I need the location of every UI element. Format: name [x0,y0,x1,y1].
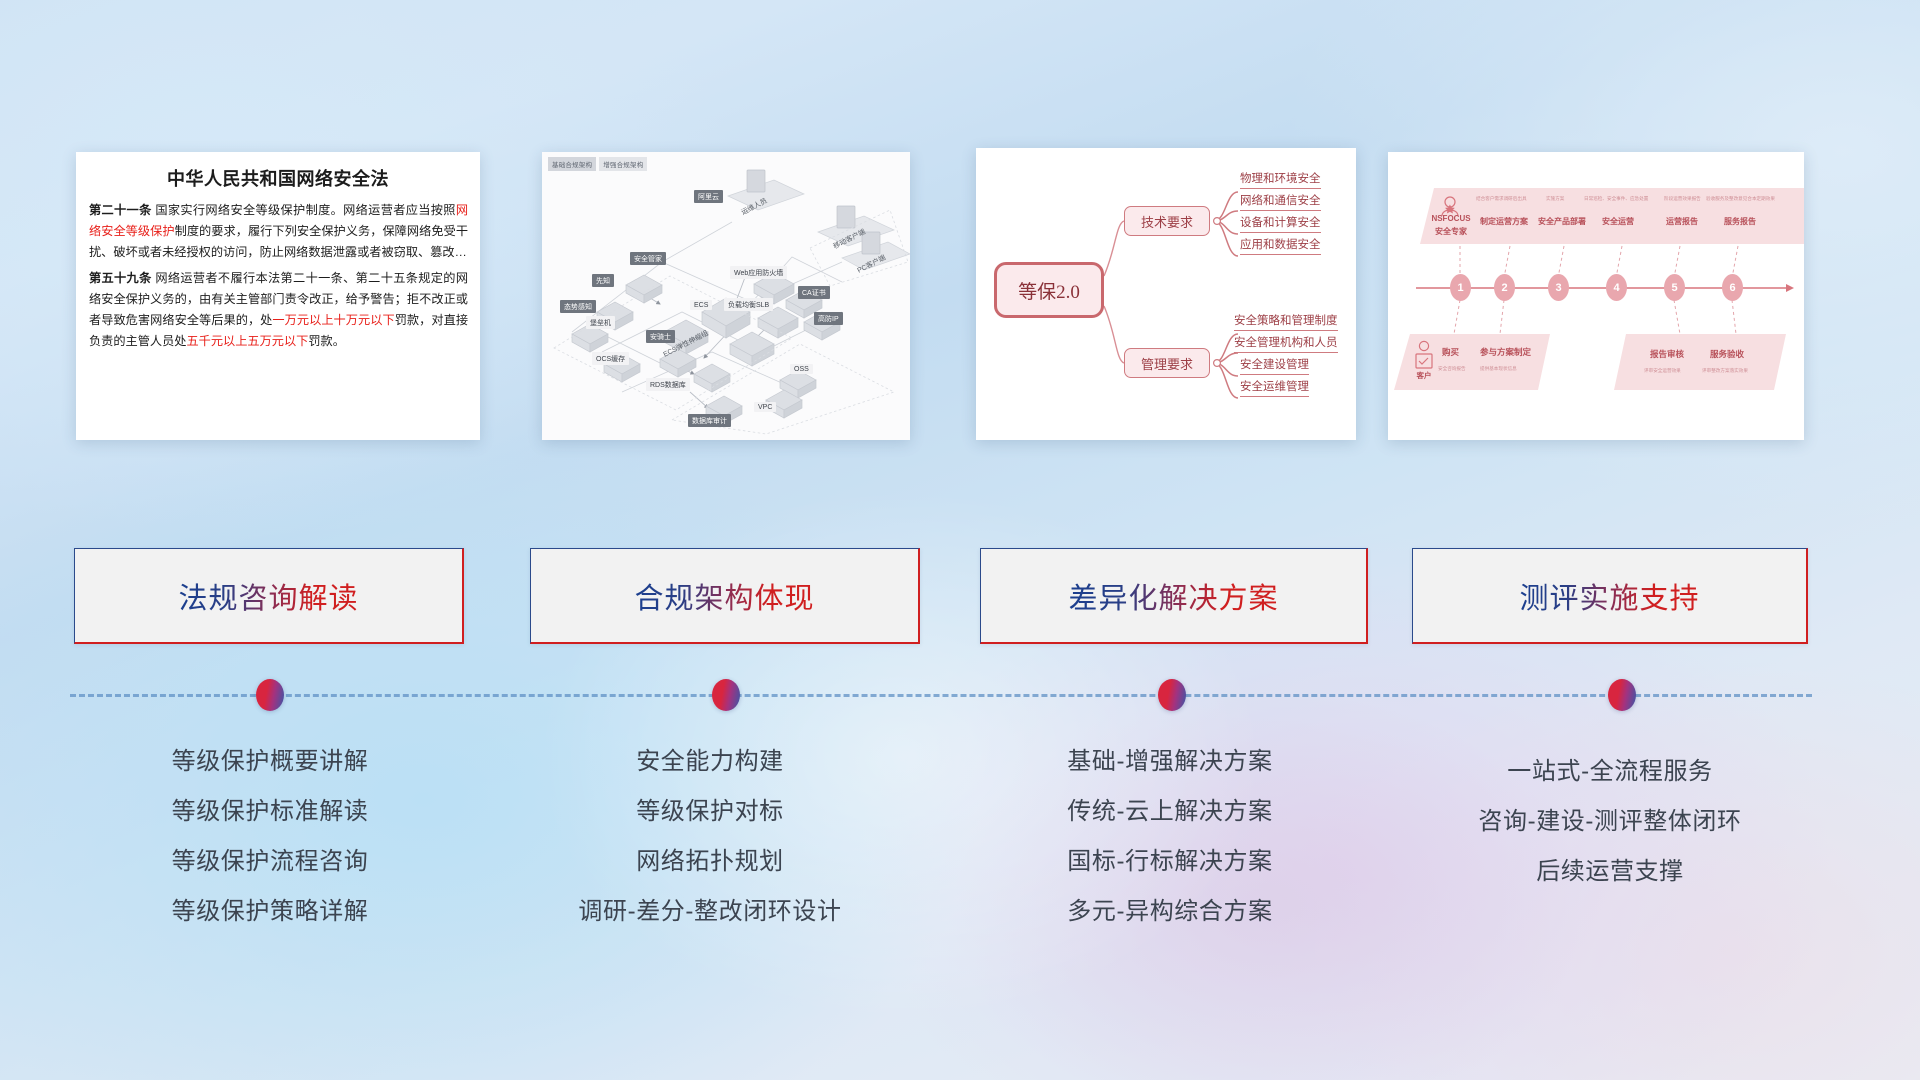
list-item: 基础-增强解决方案 [960,750,1380,774]
list-item: 等级保护策略详解 [60,900,480,924]
list-item: 多元-异构综合方案 [960,900,1380,924]
timeline-dot-2[interactable] [712,679,740,711]
timeline-dot-4[interactable] [1608,679,1636,711]
list-column-assessment-support: 一站式-全流程服务 咨询-建设-测评整体闭环 后续运营支撑 [1390,760,1830,910]
list-item: 等级保护对标 [500,800,920,824]
list-item: 国标-行标解决方案 [960,850,1380,874]
list-item: 咨询-建设-测评整体闭环 [1390,810,1830,834]
list-item: 调研-差分-整改闭环设计 [500,900,920,924]
list-item: 等级保护流程咨询 [60,850,480,874]
list-column-compliance-architecture: 安全能力构建 等级保护对标 网络拓扑规划 调研-差分-整改闭环设计 [500,750,920,950]
timeline-dot-1[interactable] [256,679,284,711]
list-column-differentiated-solution: 基础-增强解决方案 传统-云上解决方案 国标-行标解决方案 多元-异构综合方案 [960,750,1380,950]
list-item: 传统-云上解决方案 [960,800,1380,824]
timeline-dashed-line [70,694,1812,697]
list-item: 等级保护概要讲解 [60,750,480,774]
timeline-dot-3[interactable] [1158,679,1186,711]
list-item: 等级保护标准解读 [60,800,480,824]
list-item: 一站式-全流程服务 [1390,760,1830,784]
list-item: 网络拓扑规划 [500,850,920,874]
list-column-regulation-consulting: 等级保护概要讲解 等级保护标准解读 等级保护流程咨询 等级保护策略详解 [60,750,480,950]
list-item: 后续运营支撑 [1390,860,1830,884]
list-item: 安全能力构建 [500,750,920,774]
